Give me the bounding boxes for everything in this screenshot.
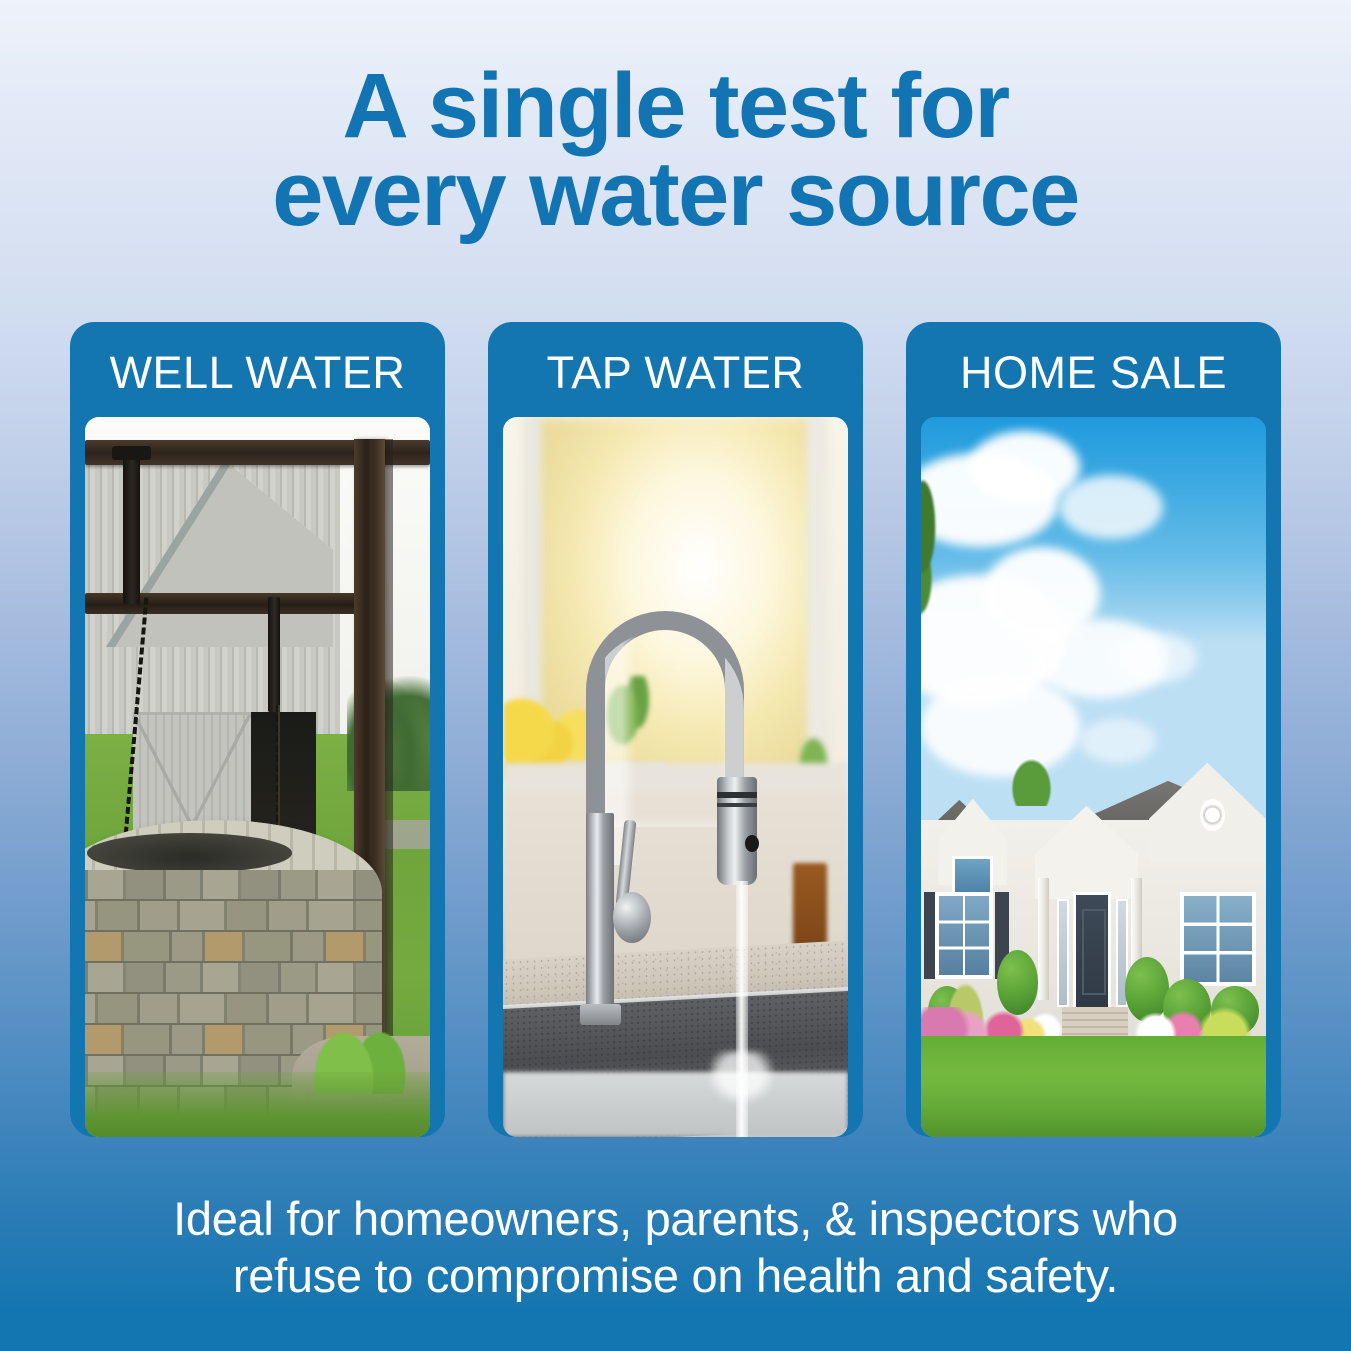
well-hoist-bracket bbox=[123, 446, 140, 604]
well-opening bbox=[87, 833, 292, 873]
front-door bbox=[1073, 892, 1111, 1014]
caption-line-2: refuse to compromise on health and safet… bbox=[233, 1249, 1118, 1302]
card-well-water[interactable]: WELL WATER bbox=[70, 322, 445, 1137]
sink-front-edge bbox=[503, 1072, 848, 1137]
foreground-grass bbox=[85, 1072, 430, 1137]
faucet-sprayer-head bbox=[717, 777, 757, 885]
water-source-card-row: WELL WATER bbox=[70, 322, 1281, 1137]
water-splash bbox=[710, 1051, 779, 1109]
faucet-column bbox=[586, 813, 614, 1022]
poster-canvas: A single test for every water source WEL… bbox=[0, 0, 1351, 1351]
cloud bbox=[1080, 719, 1156, 762]
foreground-tree-leaves bbox=[921, 475, 956, 648]
shrub bbox=[997, 950, 1038, 1015]
cloud bbox=[1059, 475, 1163, 540]
stone-course bbox=[85, 901, 382, 932]
card-title-tap-water: TAP WATER bbox=[547, 350, 805, 395]
headline-line-1: A single test for bbox=[342, 55, 1008, 157]
card-tap-water[interactable]: TAP WATER bbox=[488, 322, 863, 1137]
card-title-home-sale: HOME SALE bbox=[960, 350, 1227, 395]
well-hoist-bracket-secondary bbox=[268, 597, 280, 712]
well-water-photo bbox=[85, 417, 430, 1137]
front-lawn bbox=[921, 1036, 1266, 1137]
caption-line-1: Ideal for homeowners, parents, & inspect… bbox=[173, 1192, 1178, 1245]
card-title-well-water: WELL WATER bbox=[110, 350, 406, 395]
home-sale-photo bbox=[921, 417, 1266, 1137]
headline-line-2: every water source bbox=[0, 150, 1351, 238]
background-tree bbox=[1004, 748, 1059, 806]
stone-course bbox=[85, 870, 382, 901]
stone-course bbox=[85, 932, 382, 963]
faucet-handle-joint bbox=[613, 892, 651, 942]
card-home-sale[interactable]: HOME SALE bbox=[906, 322, 1281, 1137]
sprayer-mode-button bbox=[745, 835, 759, 852]
portico-column-left bbox=[1038, 878, 1048, 1000]
faucet-base bbox=[580, 1004, 621, 1026]
page-title: A single test for every water source bbox=[0, 62, 1351, 239]
right-window bbox=[1180, 892, 1256, 986]
cloud bbox=[1114, 633, 1197, 683]
door-sidelite-left bbox=[1057, 899, 1069, 1007]
tap-water-photo bbox=[503, 417, 848, 1137]
footer-caption: Ideal for homeowners, parents, & inspect… bbox=[0, 1190, 1351, 1305]
